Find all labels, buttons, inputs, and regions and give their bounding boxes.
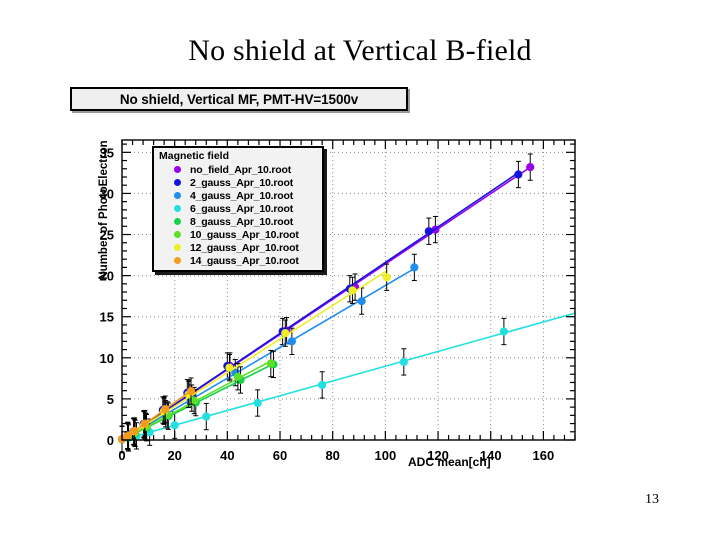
data-point [254, 399, 262, 407]
legend-item-label: 8_gauss_Apr_10.root [190, 216, 293, 228]
data-point [383, 273, 391, 281]
data-point [267, 359, 275, 367]
x-tick-label: 20 [167, 448, 181, 463]
legend-marker-icon [174, 205, 181, 212]
data-point [526, 163, 534, 171]
legend-box: Magnetic field no_field_Apr_10.root2_gau… [152, 146, 324, 272]
data-point [225, 364, 233, 372]
slide-canvas: No shield at Vertical B-field No shield,… [0, 0, 720, 540]
legend-marker-icon [174, 192, 181, 199]
page-title: No shield at Vertical B-field [0, 34, 720, 68]
data-point [281, 329, 289, 337]
data-point [141, 419, 149, 427]
legend-item: 6_gauss_Apr_10.root [158, 202, 319, 215]
data-point [514, 170, 522, 178]
data-point [187, 387, 195, 395]
y-tick-label: 0 [107, 433, 114, 448]
slide-number: 13 [645, 492, 659, 508]
data-point [234, 373, 242, 381]
legend-marker-icon [174, 231, 181, 238]
y-axis-label: Number of PhotoElectron [98, 110, 110, 310]
data-point [500, 327, 508, 335]
data-series [118, 313, 575, 453]
legend-marker-icon [174, 257, 181, 264]
scatter-plot: 02040608010012014016005101520253035 Numb… [60, 118, 590, 478]
legend-item: 14_gauss_Apr_10.root [158, 254, 319, 267]
y-tick-label: 5 [107, 392, 114, 407]
legend-marker-icon [174, 244, 181, 251]
legend-item-label: 2_gauss_Apr_10.root [190, 177, 293, 189]
legend-marker-icon [174, 218, 181, 225]
y-tick-label: 10 [100, 351, 114, 366]
x-tick-label: 0 [118, 448, 125, 463]
legend-item-label: 6_gauss_Apr_10.root [190, 203, 293, 215]
legend-item-label: 10_gauss_Apr_10.root [190, 229, 299, 241]
data-point [410, 263, 418, 271]
x-tick-label: 40 [220, 448, 234, 463]
legend-item: 12_gauss_Apr_10.root [158, 241, 319, 254]
data-point [318, 381, 326, 389]
subtitle-banner: No shield, Vertical MF, PMT-HV=1500v [70, 87, 408, 111]
x-tick-label: 160 [533, 448, 555, 463]
legend-item: 10_gauss_Apr_10.root [158, 228, 319, 241]
legend-item-label: no_field_Apr_10.root [190, 164, 291, 176]
x-tick-label: 60 [273, 448, 287, 463]
legend-item-label: 12_gauss_Apr_10.root [190, 242, 299, 254]
legend-item: 4_gauss_Apr_10.root [158, 189, 319, 202]
y-tick-label: 15 [100, 310, 114, 325]
data-point [348, 286, 356, 294]
legend-item: no_field_Apr_10.root [158, 163, 319, 176]
plot-svg: 02040608010012014016005101520253035 [60, 118, 590, 478]
data-point [400, 358, 408, 366]
data-point [161, 405, 169, 413]
legend-item-label: 14_gauss_Apr_10.root [190, 255, 299, 267]
x-axis-label: ADC mean[ch] [408, 455, 491, 469]
legend-item-label: 4_gauss_Apr_10.root [190, 190, 293, 202]
data-point [202, 412, 210, 420]
legend-item: 2_gauss_Apr_10.root [158, 176, 319, 189]
legend-marker-icon [174, 179, 181, 186]
data-point [288, 337, 296, 345]
legend-title: Magnetic field [159, 150, 319, 162]
legend-marker-icon [174, 166, 181, 173]
subtitle-text: No shield, Vertical MF, PMT-HV=1500v [120, 92, 358, 107]
data-point [358, 297, 366, 305]
legend-entries: no_field_Apr_10.root2_gauss_Apr_10.root4… [158, 163, 319, 267]
x-tick-label: 100 [375, 448, 397, 463]
data-point [171, 421, 179, 429]
x-tick-label: 80 [325, 448, 339, 463]
legend-item: 8_gauss_Apr_10.root [158, 215, 319, 228]
data-point [130, 427, 138, 435]
data-point [425, 227, 433, 235]
